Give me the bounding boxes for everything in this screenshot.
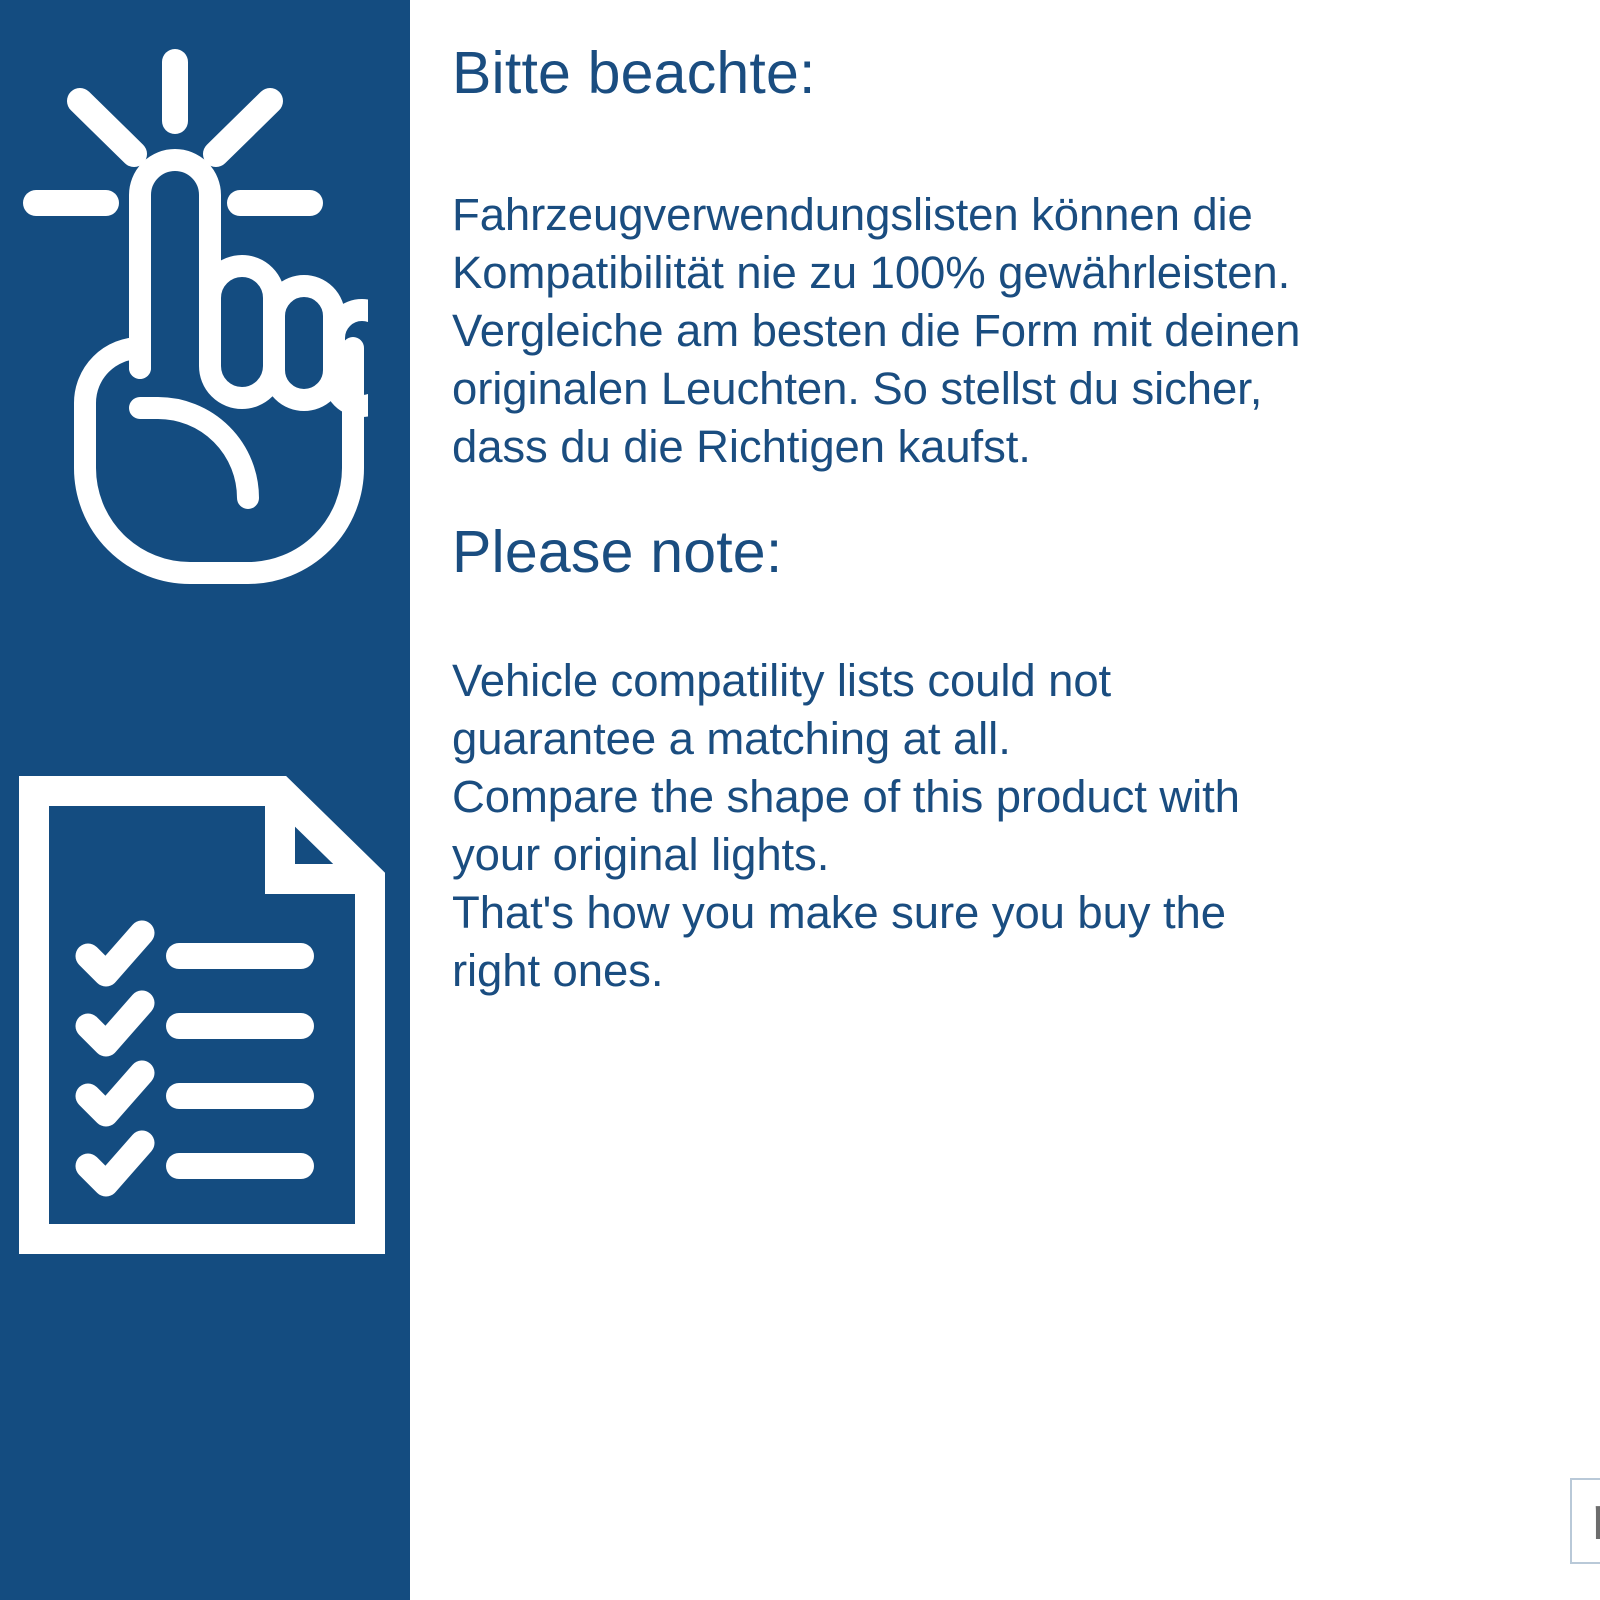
english-heading: Please note: [452,523,782,582]
german-body-text: Fahrzeugverwendungslisten können die Kom… [452,186,1512,476]
mt-commerce-logo: mt commerce [1570,1478,1600,1564]
english-body-text: Vehicle compatility lists could not guar… [452,652,1452,1000]
logo-mark-text: mt [1592,1488,1600,1554]
logo-mark-box: mt [1570,1478,1600,1564]
info-graphic-page: Bitte beachte: Fahrzeugverwendungslisten… [0,0,1600,1600]
pointing-hand-click-icon [18,48,368,588]
sidebar-blue-panel [0,0,410,1600]
german-heading: Bitte beachte: [452,44,816,103]
content-column: Bitte beachte: Fahrzeugverwendungslisten… [452,0,1562,1600]
checklist-document-icon [18,775,386,1255]
